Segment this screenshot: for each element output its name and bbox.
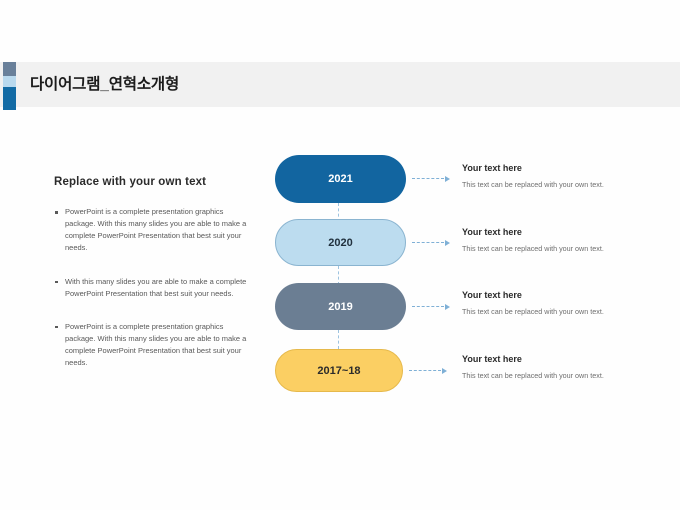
right-text-block-1: Your text here This text can be replaced… bbox=[462, 163, 642, 191]
right-block-title: Your text here bbox=[462, 290, 642, 300]
right-text-block-4: Your text here This text can be replaced… bbox=[462, 354, 642, 382]
slide-canvas: 다이어그램_연혁소개형 Replace with your own text P… bbox=[0, 0, 680, 510]
timeline-pill-2019[interactable]: 2019 bbox=[275, 283, 406, 330]
dashed-arrow-icon bbox=[409, 366, 447, 375]
dashed-arrow-icon bbox=[412, 174, 450, 183]
accent-block-slate bbox=[3, 62, 16, 76]
bullet-dot-icon bbox=[55, 211, 58, 214]
left-text-panel: Replace with your own text PowerPoint is… bbox=[54, 176, 254, 369]
right-block-title: Your text here bbox=[462, 163, 642, 173]
right-block-title: Your text here bbox=[462, 354, 642, 364]
accent-block-blue bbox=[3, 87, 16, 110]
bullet-text: PowerPoint is a complete presentation gr… bbox=[65, 207, 246, 252]
bullet-dot-icon bbox=[55, 326, 58, 329]
left-bullet-list: PowerPoint is a complete presentation gr… bbox=[54, 206, 254, 369]
right-text-block-2: Your text here This text can be replaced… bbox=[462, 227, 642, 255]
arrow-head bbox=[445, 176, 450, 182]
list-item: With this many slides you are able to ma… bbox=[54, 276, 254, 300]
list-item: PowerPoint is a complete presentation gr… bbox=[54, 321, 254, 370]
arrow-shaft bbox=[412, 306, 444, 307]
timeline-pill-2017-18[interactable]: 2017~18 bbox=[275, 349, 403, 392]
bullet-text: PowerPoint is a complete presentation gr… bbox=[65, 322, 246, 367]
arrow-head bbox=[442, 368, 447, 374]
header-accent-stack bbox=[3, 62, 16, 110]
page-title: 다이어그램_연혁소개형 bbox=[30, 62, 179, 107]
dashed-arrow-icon bbox=[412, 302, 450, 311]
list-item: PowerPoint is a complete presentation gr… bbox=[54, 206, 254, 255]
right-block-body: This text can be replaced with your own … bbox=[462, 371, 642, 382]
timeline-pill-2020[interactable]: 2020 bbox=[275, 219, 406, 266]
arrow-shaft bbox=[412, 242, 444, 243]
right-block-body: This text can be replaced with your own … bbox=[462, 180, 642, 191]
bullet-dot-icon bbox=[55, 281, 58, 284]
arrow-shaft bbox=[412, 178, 444, 179]
bullet-text: With this many slides you are able to ma… bbox=[65, 277, 246, 298]
accent-block-lightblue bbox=[3, 76, 16, 87]
right-text-block-3: Your text here This text can be replaced… bbox=[462, 290, 642, 318]
dashed-arrow-icon bbox=[412, 238, 450, 247]
right-block-body: This text can be replaced with your own … bbox=[462, 244, 642, 255]
right-block-body: This text can be replaced with your own … bbox=[462, 307, 642, 318]
arrow-head bbox=[445, 240, 450, 246]
timeline-pill-2021[interactable]: 2021 bbox=[275, 155, 406, 203]
arrow-shaft bbox=[409, 370, 441, 371]
timeline-connector-vertical bbox=[338, 330, 339, 349]
right-block-title: Your text here bbox=[462, 227, 642, 237]
left-panel-heading: Replace with your own text bbox=[54, 176, 254, 188]
arrow-head bbox=[445, 304, 450, 310]
